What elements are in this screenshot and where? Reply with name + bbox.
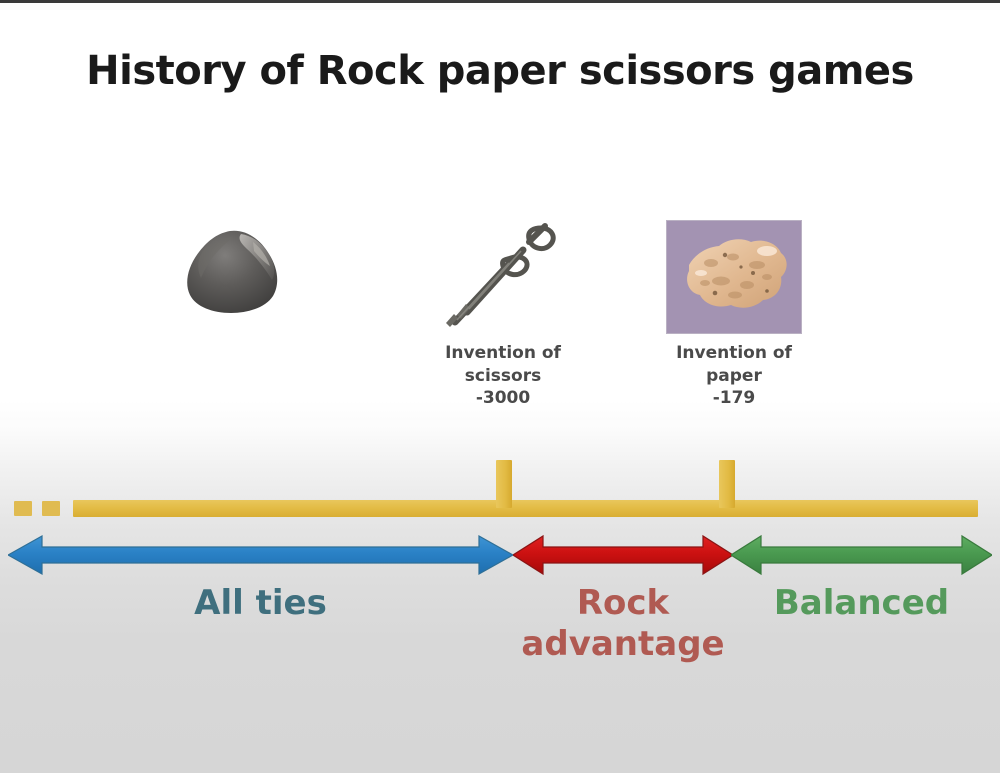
span-arrow-balanced [731,534,992,576]
span-label-balanced: Balanced [731,583,992,624]
rock-photo [183,228,283,316]
caption-year: -179 [634,387,834,410]
caption-line: scissors [403,365,603,388]
timeline-tick-scissors [496,460,512,508]
caption-line: Invention of [403,342,603,365]
caption-line: paper [634,365,834,388]
span-label-rock-advantage: Rock advantage [503,583,743,666]
span-label-line: All ties [194,583,327,623]
page-title: History of Rock paper scissors games [0,48,1000,94]
timeline-leading-dash [42,501,60,516]
caption-year: -3000 [403,387,603,410]
event-caption-paper: Invention of paper -179 [634,342,834,410]
span-label-line: Balanced [774,583,949,623]
span-arrow-all-ties [8,534,513,576]
top-edge-strip [0,0,1000,3]
meme-image: History of Rock paper scissors games [0,0,1000,773]
timeline-tick-paper [719,460,735,508]
span-label-all-ties: All ties [8,583,513,624]
span-label-line: Rock [503,583,743,624]
event-caption-scissors: Invention of scissors -3000 [403,342,603,410]
span-arrow-rock-advantage [513,534,733,576]
caption-line: Invention of [634,342,834,365]
ancient-scissors-photo [437,218,565,330]
span-label-line: advantage [503,624,743,665]
timeline-axis [73,500,978,517]
timeline-leading-dash [14,501,32,516]
ancient-paper-photo [667,221,801,333]
